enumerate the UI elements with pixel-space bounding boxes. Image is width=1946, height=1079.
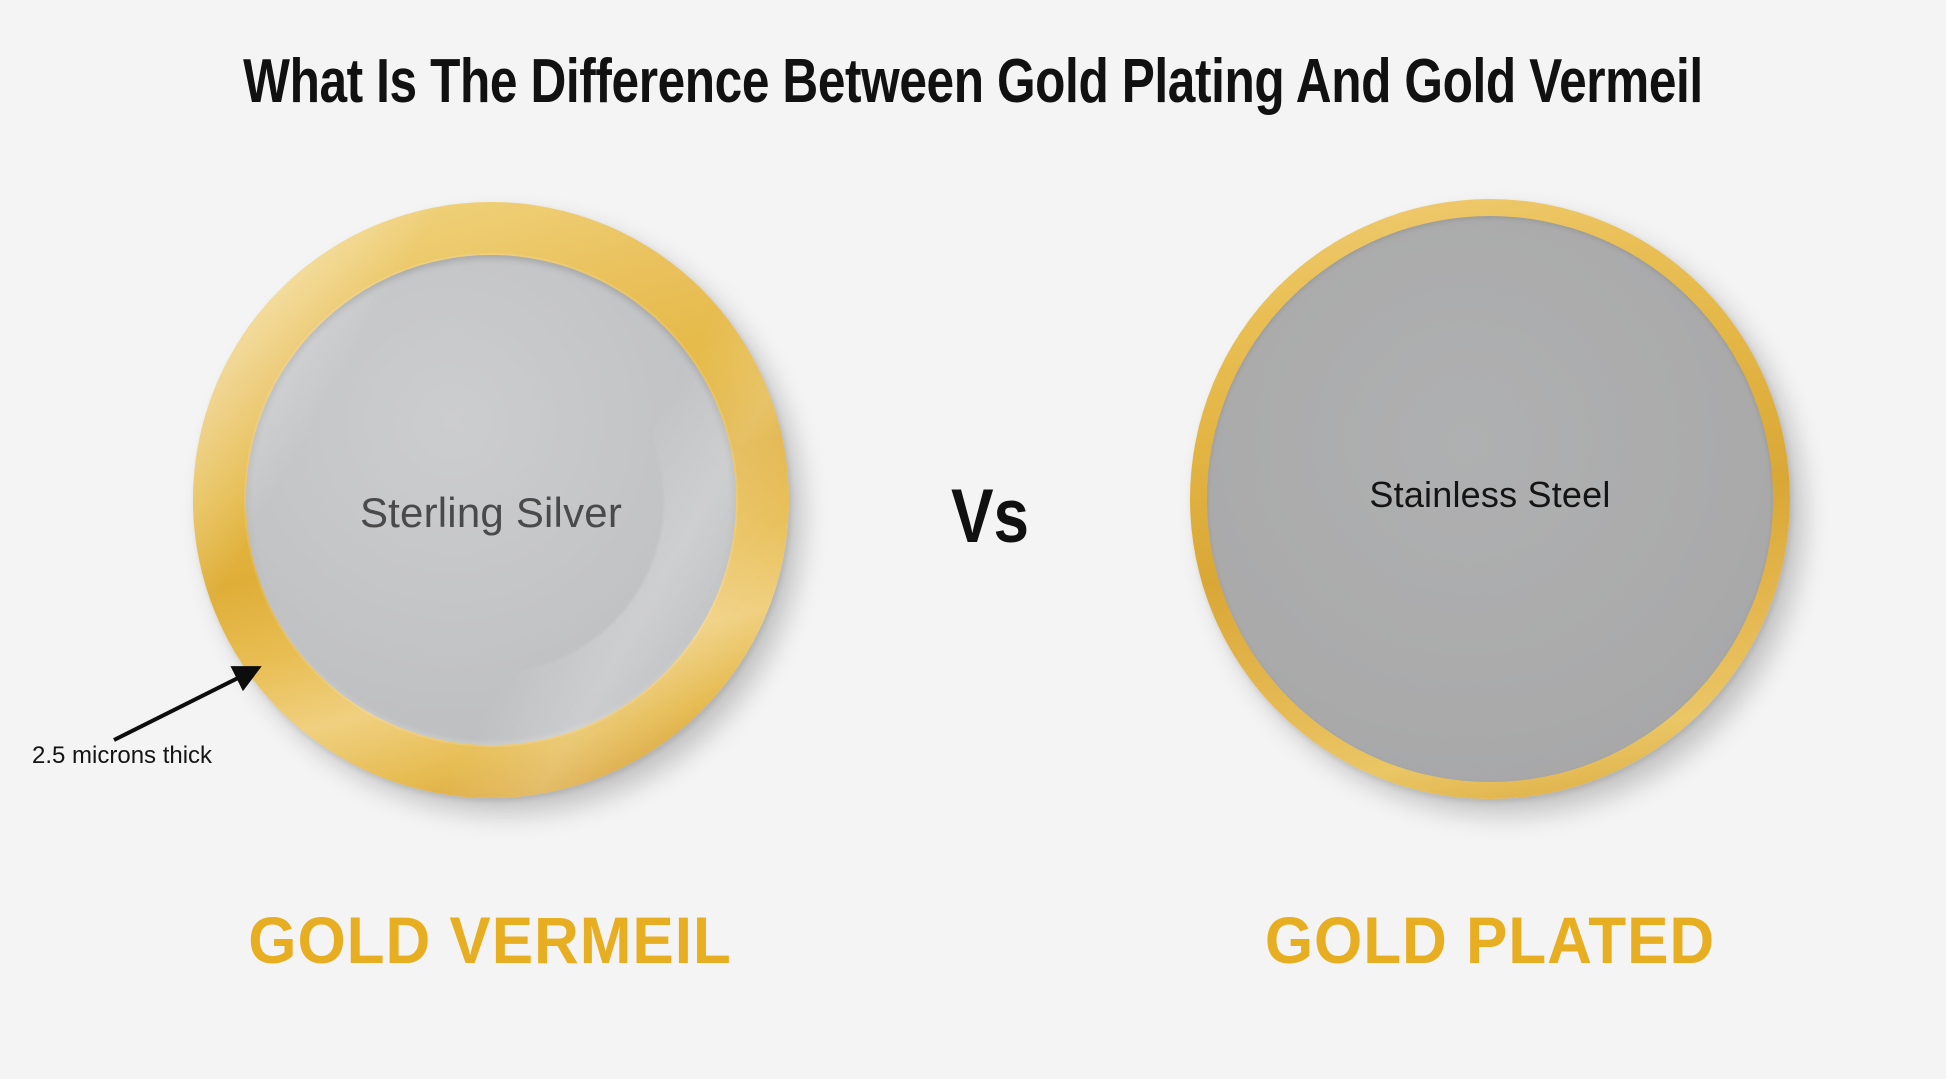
versus-label: Vs bbox=[914, 477, 1065, 557]
gold-vermeil-caption: GOLD VERMEIL bbox=[208, 904, 772, 976]
thickness-annotation-label: 2.5 microns thick bbox=[32, 742, 212, 770]
gold-plated-caption: GOLD PLATED bbox=[1208, 904, 1772, 976]
infographic-canvas: What Is The Difference Between Gold Plat… bbox=[0, 0, 1946, 1079]
sterling-silver-label: Sterling Silver bbox=[193, 489, 789, 537]
stainless-steel-label: Stainless Steel bbox=[1190, 474, 1790, 516]
page-title: What Is The Difference Between Gold Plat… bbox=[195, 47, 1752, 117]
